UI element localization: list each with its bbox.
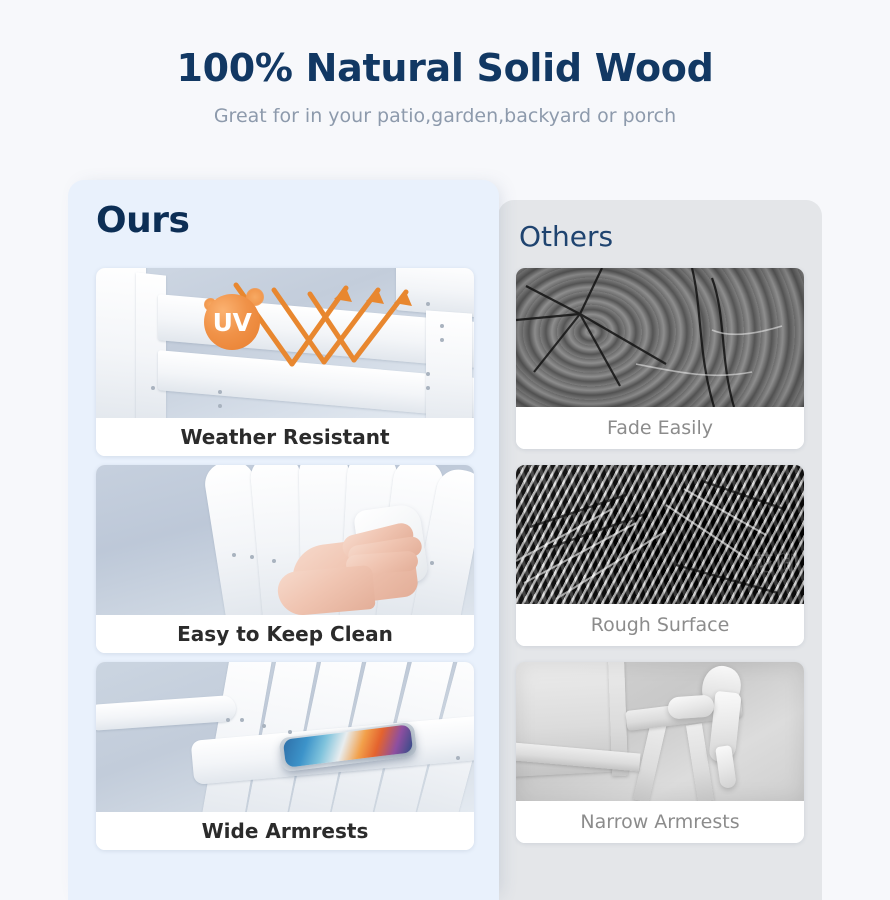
ours-card-3-image bbox=[96, 662, 474, 812]
uv-reflection-arrows-icon bbox=[96, 268, 474, 418]
others-card-fade-easily[interactable]: Fade Easily bbox=[516, 268, 804, 449]
ours-card-easy-to-keep-clean[interactable]: Easy to Keep Clean bbox=[96, 465, 474, 653]
ours-card-2-label: Easy to Keep Clean bbox=[96, 615, 474, 653]
others-card-1-image bbox=[516, 268, 804, 407]
others-card-1-label: Fade Easily bbox=[516, 407, 804, 449]
infographic-canvas: 100% Natural Solid Wood Great for in you… bbox=[0, 0, 890, 890]
others-card-rough-surface[interactable]: 花卿 Rough Surface bbox=[516, 465, 804, 646]
others-card-narrow-armrests[interactable]: Narrow Armrests bbox=[516, 662, 804, 843]
others-card-2-label: Rough Surface bbox=[516, 604, 804, 646]
ours-card-3-label: Wide Armrests bbox=[96, 812, 474, 850]
others-heading: Others bbox=[519, 220, 613, 253]
ours-card-wide-armrests[interactable]: Wide Armrests bbox=[96, 662, 474, 850]
others-card-3-label: Narrow Armrests bbox=[516, 801, 804, 843]
ours-card-weather-resistant[interactable]: UV Weather Resistant bbox=[96, 268, 474, 456]
ours-card-1-label: Weather Resistant bbox=[96, 418, 474, 456]
ours-card-2-image bbox=[96, 465, 474, 615]
others-card-3-image bbox=[516, 662, 804, 801]
page-subtitle: Great for in your patio,garden,backyard … bbox=[0, 105, 890, 127]
page-title: 100% Natural Solid Wood bbox=[0, 46, 890, 90]
ours-card-1-image: UV bbox=[96, 268, 474, 418]
uv-badge: UV bbox=[204, 294, 260, 350]
ours-heading: Ours bbox=[96, 200, 189, 241]
others-card-2-image: 花卿 bbox=[516, 465, 804, 604]
